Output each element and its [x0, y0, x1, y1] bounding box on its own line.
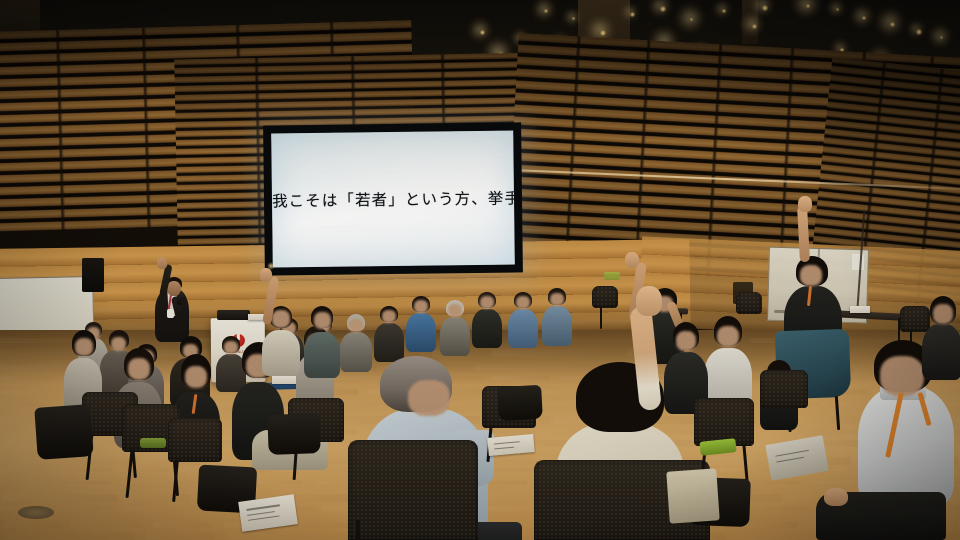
- chair-midrow-3: [168, 418, 222, 462]
- foreground-raised-hand: [636, 286, 662, 316]
- chair-cushion-green-3: [604, 272, 620, 280]
- foreground-chair-left: [348, 440, 478, 540]
- ceiling-light: [836, 8, 839, 11]
- ceiling-light: [916, 29, 922, 35]
- presenter: [150, 262, 196, 342]
- floor-plank: [0, 468, 112, 472]
- audience-right-edge: [920, 296, 960, 380]
- ceiling-light: [762, 5, 768, 11]
- ceiling-light: [940, 36, 943, 39]
- audience-back-14: [540, 288, 574, 346]
- floor-plank: [251, 481, 303, 484]
- floor-plank: [153, 522, 211, 528]
- empty-chair-back-2: [736, 292, 762, 314]
- ceiling-light: [862, 16, 866, 20]
- empty-chair-back-1-leg: [600, 307, 602, 329]
- audience-back-11: [438, 300, 472, 356]
- slide-text: 我こそは「若者」という方、挙手！: [272, 187, 514, 212]
- ceiling-light: [572, 17, 575, 20]
- audience-right-raised-hand: [798, 196, 812, 212]
- floor-outlet-plate: [18, 506, 54, 519]
- floor-plank: [742, 430, 864, 434]
- audience-back-10: [404, 296, 438, 352]
- audience-back-13: [506, 292, 540, 348]
- floor-plank: [1, 376, 51, 380]
- audience-mid-raised-hand: [625, 252, 639, 268]
- floor-bag-mid: [267, 413, 320, 455]
- floor-bag-back: [497, 385, 543, 421]
- floor-plank: [119, 468, 170, 472]
- floor-plank: [70, 522, 143, 528]
- projection-screen-surface: 我こそは「若者」という方、挙手！: [271, 131, 515, 268]
- audience-raised-hand-left: [258, 302, 304, 376]
- floor-plank: [492, 350, 621, 357]
- audience-back-9: [372, 306, 406, 362]
- floor-plank: [0, 481, 111, 484]
- floor-plank: [13, 457, 129, 465]
- ceiling-light: [600, 30, 606, 36]
- projection-screen-frame: 我こそは「若者」という方、挙手！: [263, 122, 523, 275]
- audience-mid-green: [300, 306, 344, 378]
- floor-plank: [2, 494, 118, 501]
- chair-midrow-7: [760, 370, 808, 408]
- ceiling-soffit-left: [0, 0, 40, 32]
- clipboard-person-hand: [824, 488, 848, 506]
- floor-plank: [3, 533, 134, 540]
- ceiling-light: [630, 12, 635, 17]
- podium-laptop: [217, 310, 250, 320]
- ceiling-light: [544, 9, 548, 13]
- floor-plank: [0, 402, 43, 406]
- foreground-blue-face: [408, 380, 450, 416]
- photo-scene: 我こそは「若者」という方、挙手！ ORGANIZER: [0, 0, 960, 540]
- clipboard-person-torso: [858, 386, 954, 506]
- ceiling-light: [690, 18, 693, 21]
- foreground-chair-left-leg: [356, 520, 360, 540]
- ceiling-light: [480, 30, 485, 35]
- ceiling-light: [890, 22, 895, 27]
- audience-left-raised-hand: [260, 268, 272, 282]
- audience-back-12: [470, 292, 504, 348]
- pa-speaker: [82, 258, 104, 292]
- ceiling-light: [722, 9, 726, 13]
- ceiling-light: [660, 6, 666, 12]
- presenter-raised-hand: [156, 256, 168, 269]
- floor-plank: [127, 494, 190, 501]
- floor-tote-cream: [666, 468, 720, 523]
- floor-plank: [146, 533, 214, 540]
- floor-bag-left: [34, 404, 93, 460]
- empty-chair-back-1: [592, 286, 618, 308]
- ceiling-light: [806, 4, 810, 8]
- floor-plank: [4, 522, 61, 528]
- presenter-badge: [167, 309, 174, 318]
- ceiling-light: [752, 24, 757, 29]
- chair-cushion-green-2: [140, 438, 166, 448]
